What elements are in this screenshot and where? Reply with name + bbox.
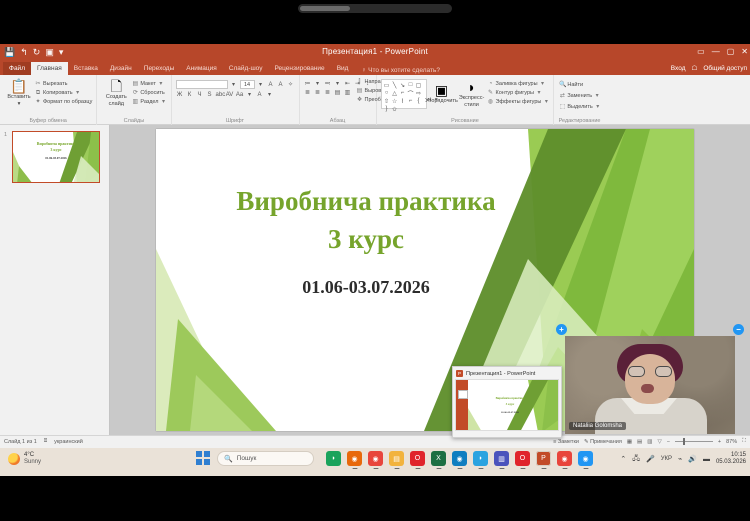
paste-label: Вставить	[7, 94, 30, 101]
lightbulb-icon: ♀	[361, 67, 366, 74]
running-indicator	[394, 468, 399, 470]
status-bar: Слайд 1 из 1 ⌸ украинский ≡ Заметки ✎ Пр…	[0, 435, 750, 447]
editing-commands: 🔍 Найти ⇄ Заменить ▾ ⬚ Выделить ▾	[558, 77, 600, 111]
shape-oval-icon[interactable]: ○	[383, 89, 391, 97]
shapes-gallery[interactable]: ▭ ╲ ↘ □ ▢ ○ △ ⌐ ⌒ ⇨ ⇧ ☆ ⌇ ⌐ {	[381, 79, 427, 109]
tab-animations[interactable]: Анимация	[180, 62, 223, 75]
group-font: ▾ 14 ▾ A A ✧ Ж К Ч S abc AV Aa	[172, 75, 300, 125]
group-label-font: Шрифт	[172, 118, 299, 124]
zoom-slider[interactable]	[675, 441, 713, 442]
shrink-font-icon[interactable]: A	[277, 82, 285, 88]
paste-chevron-down-icon[interactable]: ▾	[18, 101, 21, 108]
tab-review[interactable]: Рецензирование	[268, 62, 330, 75]
running-indicator	[415, 468, 420, 470]
character-spacing-icon[interactable]: AV	[226, 92, 234, 98]
view-reading-icon[interactable]: ▥	[647, 439, 652, 445]
shape-arrow-up-icon[interactable]: ⇧	[383, 97, 391, 105]
tab-design[interactable]: Дизайн	[104, 62, 138, 75]
network-icon[interactable]: 🖧	[632, 454, 640, 465]
tab-view[interactable]: Вид	[331, 62, 355, 75]
slide-counter: Слайд 1 из 1	[4, 439, 37, 445]
taskbar-app-opera-icon[interactable]: O	[410, 451, 425, 466]
shape-curve-icon[interactable]: ⌒	[407, 89, 415, 97]
person-icon: ☖	[692, 64, 698, 72]
align-left-icon[interactable]: ≣	[304, 89, 312, 96]
align-right-icon[interactable]: ≣	[324, 89, 332, 96]
strikethrough-icon[interactable]: abc	[216, 92, 224, 98]
taskbar-search[interactable]: 🔍 Пошук	[217, 451, 314, 466]
clear-format-icon[interactable]: ✧	[287, 81, 295, 88]
shape-flow-icon[interactable]: ⌇	[399, 97, 407, 105]
signin-area[interactable]: Вход ☖ Общий доступ	[671, 64, 747, 72]
clock[interactable]: 10:15 05.03.2026	[716, 452, 746, 466]
quick-styles-label: Экспресс-стили	[457, 95, 487, 109]
shape-outline-icon: ✎	[488, 89, 494, 97]
shape-fill-chevron-down-icon[interactable]: ▾	[540, 80, 546, 88]
start-icon-q2	[204, 451, 210, 457]
taskbar-preview-popup[interactable]: P Презентация1 - PowerPoint Виробнича пр…	[452, 366, 562, 438]
tell-me-search[interactable]: ♀ Что вы хотите сделать?	[354, 66, 440, 75]
group-label-drawing: Рисование	[377, 118, 554, 124]
format-painter-button[interactable]: ✦ Формат по образцу	[35, 98, 92, 106]
start-icon-q4	[204, 459, 210, 465]
video-call-tile[interactable]: Nataliia Golomsha	[565, 336, 735, 434]
shape-arrow-right-icon[interactable]: ⇨	[415, 89, 423, 97]
shape-effects-label: Эффекты фигуры	[496, 98, 542, 106]
search-icon: 🔍	[224, 455, 233, 463]
shape-corner-icon[interactable]: ⌐	[399, 89, 407, 97]
italic-icon[interactable]: К	[186, 92, 194, 98]
arrange-label: Упорядочить	[425, 98, 458, 105]
shape-effects-icon: ◍	[488, 98, 494, 106]
thumbnail-row: 1 Виробнича практика 3 курс 01.06-03.	[4, 131, 105, 183]
new-slide-icon: 🗋	[111, 79, 122, 94]
format-painter-icon: ✦	[35, 98, 41, 106]
section-icon: ▥	[132, 98, 138, 106]
shape-arrow-icon[interactable]: ↘	[399, 81, 407, 89]
find-button[interactable]: 🔍 Найти	[559, 81, 600, 89]
underline-icon[interactable]: Ч	[196, 92, 204, 98]
weather-text: 4°C Sunny	[24, 452, 41, 466]
font-size-field[interactable]: 14	[240, 80, 255, 89]
zoom-in-button[interactable]: +	[718, 439, 721, 445]
taskbar-app-teams-icon[interactable]: ▥	[494, 451, 509, 466]
start-icon-q1	[196, 451, 202, 457]
decrease-indent-icon[interactable]: ⇤	[344, 80, 352, 87]
font-name-field[interactable]	[176, 80, 228, 89]
grow-font-icon[interactable]: A	[267, 82, 275, 88]
video-minimize-button[interactable]: −	[733, 324, 744, 335]
clock-date: 05.03.2026	[716, 459, 746, 466]
start-button[interactable]	[196, 451, 211, 466]
running-indicator	[541, 468, 546, 470]
taskbar-app-chrome-icon[interactable]: ◉	[368, 451, 383, 466]
window-title: Презентация1 - PowerPoint	[0, 47, 750, 56]
taskbar-app-icons: ◗ ◉ ◉ ▤ O X ◉ ◗ ▥ O P ◉ ◉	[326, 451, 593, 466]
ribbon-tabs: Файл Главная Вставка Дизайн Переходы Ани…	[0, 62, 750, 75]
fit-to-window-icon[interactable]: ⛶	[742, 438, 746, 445]
participant-head	[617, 344, 683, 406]
comments-button[interactable]: ✎ Примечания	[584, 439, 622, 445]
thumbnail-dates: 01.06-03.07.2026	[13, 156, 99, 160]
screen-share-top-band	[0, 0, 750, 44]
share-button[interactable]: Общий доступ	[703, 65, 747, 72]
bullets-chevron-down-icon[interactable]: ▾	[314, 80, 322, 87]
quick-styles-icon: ◗	[467, 80, 475, 95]
preview-title: Презентация1 - PowerPoint	[466, 371, 535, 377]
taskbar-app-meet-icon[interactable]: ◗	[326, 451, 341, 466]
status-left: Слайд 1 из 1 ⌸ украинский	[4, 438, 83, 445]
running-indicator	[520, 468, 525, 470]
weather-widget[interactable]: 4°C Sunny	[8, 452, 41, 466]
shape-star-icon[interactable]: ☆	[391, 97, 399, 105]
running-indicator	[436, 468, 441, 470]
slide-thumbnail-pane[interactable]: 1 Виробнича практика 3 курс 01.06-03.	[0, 125, 110, 435]
slide-title-line2: 3 курс	[156, 224, 576, 255]
shape-effects-chevron-down-icon[interactable]: ▾	[543, 98, 549, 106]
format-painter-label: Формат по образцу	[43, 98, 92, 106]
comments-label: Примечания	[590, 439, 622, 445]
windows-taskbar: 4°C Sunny 🔍 Пошук ◗ ◉ ◉ ▤ O X ◉ ◗	[0, 448, 750, 476]
mic-icon[interactable]: 🎤	[646, 455, 655, 463]
bullets-icon[interactable]: ≔	[304, 80, 312, 87]
clipboard-commands: ✂ Вырезать ⧉ Копировать ▾ ✦ Формат по об…	[34, 80, 92, 106]
select-chevron-down-icon[interactable]: ▾	[595, 103, 601, 111]
shape-bracket-icon[interactable]: ⌐	[407, 97, 415, 105]
taskbar-app-chrome2-icon[interactable]: ◉	[557, 451, 572, 466]
powerpoint-icon: P	[456, 370, 463, 377]
taskbar-app-excel-icon[interactable]: X	[431, 451, 446, 466]
search-placeholder: Пошук	[237, 455, 257, 462]
layout-icon: ▤	[132, 80, 138, 88]
slides-commands: ▤ Макет ▾ ⟳ Сбросить ▥ Раздел ▾	[131, 80, 166, 106]
shape-fill-label: Заливка фигуры	[496, 80, 538, 88]
taskbar-app-firefox-icon[interactable]: ◉	[347, 451, 362, 466]
columns-icon[interactable]: ▥	[344, 89, 352, 96]
running-indicator	[457, 468, 462, 470]
tab-home[interactable]: Главная	[31, 62, 68, 75]
running-indicator	[562, 468, 567, 470]
shape-star2-icon[interactable]: ✩	[391, 105, 399, 113]
select-button[interactable]: ⬚ Выделить ▾	[559, 103, 600, 111]
weather-description: Sunny	[24, 459, 41, 466]
zoom-level[interactable]: 87%	[726, 439, 737, 445]
copy-label: Копировать	[43, 89, 73, 97]
shape-outline-label: Контур фигуры	[496, 89, 534, 97]
participant-mouth	[641, 384, 654, 393]
start-icon-q3	[196, 459, 202, 465]
replace-label: Заменить	[567, 92, 592, 100]
preview-title-line1: Виробнича практика	[464, 396, 556, 400]
numbering-chevron-down-icon[interactable]: ▾	[334, 80, 342, 87]
section-button[interactable]: ▥ Раздел ▾	[132, 98, 166, 106]
video-add-button[interactable]: +	[556, 324, 567, 335]
shape-fill-button[interactable]: ◔ Заливка фигуры ▾	[488, 80, 550, 88]
arrange-icon: ▣	[435, 83, 448, 98]
tray-overflow-chevron-up-icon[interactable]: ⌃	[620, 455, 626, 463]
align-center-icon[interactable]: ≣	[314, 89, 322, 96]
zoom-slider-handle[interactable]	[683, 438, 685, 445]
paste-icon: 📋	[10, 79, 27, 94]
slide-title-line1: Виробнича практика	[156, 186, 576, 217]
layout-button[interactable]: ▤ Макет ▾	[132, 80, 166, 88]
title-bar: 💾 ↰ ↻ ▣ ▾ Презентация1 - PowerPoint ▭ — …	[0, 44, 750, 62]
replace-button[interactable]: ⇄ Заменить ▾	[559, 92, 600, 100]
glasses-right-lens	[655, 366, 672, 377]
view-sorter-icon[interactable]: ▤	[637, 439, 642, 445]
align-text-icon: ▤	[357, 87, 363, 95]
group-label-editing: Редактирование	[554, 118, 604, 124]
new-slide-label: Создать слайд	[101, 94, 131, 108]
taskbar-app-zoom-icon[interactable]: ◉	[578, 451, 593, 466]
ribbon-display-options-icon[interactable]: ▭	[697, 46, 705, 58]
running-indicator	[352, 468, 357, 470]
justify-icon[interactable]: ▤	[334, 89, 342, 96]
paste-button[interactable]: 📋 Вставить ▾	[4, 77, 34, 108]
group-slides: 🗋 Создать слайд ▤ Макет ▾ ⟳ Сбросить	[97, 75, 171, 125]
running-indicator	[583, 468, 588, 470]
running-indicator	[373, 468, 378, 470]
participant-name-label: Nataliia Golomsha	[569, 422, 626, 430]
ribbon: 📋 Вставить ▾ ✂ Вырезать ⧉ Копировать ▾	[0, 75, 750, 125]
shape-format-commands: ◔ Заливка фигуры ▾ ✎ Контур фигуры ▾ ◍ Э…	[487, 80, 550, 106]
notes-label: Заметки	[558, 439, 579, 445]
thumbnail-title-line2: 3 курс	[13, 147, 99, 152]
share-pill-fill	[300, 6, 350, 11]
new-slide-button[interactable]: 🗋 Создать слайд	[101, 77, 131, 108]
tab-slideshow[interactable]: Слайд-шоу	[223, 62, 269, 75]
close-button[interactable]: ✕	[741, 46, 748, 58]
preview-title-row: P Презентация1 - PowerPoint	[453, 367, 561, 379]
select-icon: ⬚	[559, 103, 565, 111]
screen-share-control-pill[interactable]	[298, 4, 452, 13]
replace-icon: ⇄	[559, 92, 565, 100]
screen: 💾 ↰ ↻ ▣ ▾ Презентация1 - PowerPoint ▭ — …	[0, 0, 750, 521]
find-label: Найти	[567, 81, 583, 89]
shape-brace-icon[interactable]: }	[383, 105, 391, 113]
participant-face	[625, 354, 675, 404]
maximize-button[interactable]: ▢	[727, 46, 735, 58]
tell-me-label: Что вы хотите сделать?	[368, 67, 440, 74]
font-size-chevron-down-icon[interactable]: ▾	[257, 81, 265, 88]
shape-triangle-icon[interactable]: △	[391, 89, 399, 97]
group-label-clipboard: Буфер обмена	[0, 118, 96, 124]
scissors-icon: ✂	[35, 80, 41, 88]
text-direction-icon: ⫿	[357, 78, 363, 86]
glasses-icon	[628, 366, 672, 377]
group-label-paragraph: Абзац	[300, 118, 376, 124]
group-drawing: ▭ ╲ ↘ □ ▢ ○ △ ⌐ ⌒ ⇨ ⇧ ☆ ⌇ ⌐ {	[377, 75, 555, 125]
preview-slide-thumbnail[interactable]: Виробнича практика 3 курс 01.06-03.07.20…	[455, 379, 559, 431]
change-case-icon[interactable]: Aa	[236, 92, 244, 98]
language-indicator[interactable]: УКР	[661, 456, 672, 462]
reset-label: Сбросить	[140, 89, 164, 97]
slide-number-label: 1	[4, 131, 10, 183]
layout-chevron-down-icon[interactable]: ▾	[158, 80, 164, 88]
copy-button[interactable]: ⧉ Копировать ▾	[35, 89, 92, 97]
slide-dates-text: 01.06-03.07.2026	[156, 277, 576, 298]
running-indicator	[499, 468, 504, 470]
taskbar-app-powerpoint-icon[interactable]: P	[536, 451, 551, 466]
cut-label: Вырезать	[43, 80, 67, 88]
select-label: Выделить	[567, 103, 592, 111]
spellcheck-icon[interactable]: ⌸	[44, 438, 47, 445]
replace-chevron-down-icon[interactable]: ▾	[594, 92, 600, 100]
taskbar-app-telegram-icon[interactable]: ◗	[473, 451, 488, 466]
running-indicator	[478, 468, 483, 470]
glasses-left-lens	[628, 366, 645, 377]
tab-insert[interactable]: Вставка	[68, 62, 104, 75]
copy-chevron-down-icon[interactable]: ▾	[75, 89, 81, 97]
notes-button[interactable]: ≡ Заметки	[553, 439, 579, 445]
battery-icon[interactable]: ▬	[703, 456, 710, 463]
bottom-black-band	[0, 476, 750, 521]
shadow-icon[interactable]: S	[206, 92, 214, 98]
taskbar-app-file-explorer-icon[interactable]: ▤	[389, 451, 404, 466]
wifi-icon[interactable]: ⌁	[678, 455, 682, 463]
tab-transitions[interactable]: Переходы	[138, 62, 181, 75]
font-name-chevron-down-icon[interactable]: ▾	[230, 81, 238, 88]
font-color-icon[interactable]: A	[256, 92, 264, 98]
window-controls[interactable]: ▭ — ▢ ✕	[697, 46, 748, 58]
shape-line-icon[interactable]: ╲	[391, 81, 399, 89]
reset-icon: ⟳	[132, 89, 138, 97]
group-editing: 🔍 Найти ⇄ Заменить ▾ ⬚ Выделить ▾ Редакт…	[554, 75, 604, 125]
sound-icon[interactable]: 🔊	[688, 455, 697, 463]
font-color-chevron-down-icon[interactable]: ▾	[266, 91, 274, 98]
clock-time: 10:15	[731, 452, 746, 459]
system-tray: ⌃ 🖧 🎤 УКР ⌁ 🔊 ▬ 10:15 05.03.2026	[620, 452, 746, 466]
view-normal-icon[interactable]: ▦	[627, 439, 632, 445]
change-case-chevron-down-icon[interactable]: ▾	[246, 91, 254, 98]
quick-styles-button[interactable]: ◗ Экспресс-стили	[457, 78, 487, 109]
view-slideshow-icon[interactable]: ▽	[657, 439, 661, 445]
layout-label: Макет	[140, 80, 156, 88]
taskbar-center: 🔍 Пошук ◗ ◉ ◉ ▤ O X ◉ ◗ ▥ O P ◉ ◉	[196, 451, 593, 466]
search-icon: 🔍	[559, 81, 565, 89]
minimize-button[interactable]: —	[712, 46, 720, 58]
weather-temperature: 4°C	[24, 452, 41, 459]
ribbon-tab-strip: Файл Главная Вставка Дизайн Переходы Ани…	[0, 62, 750, 75]
slide-thumbnail-1[interactable]: Виробнича практика 3 курс 01.06-03.07.20…	[12, 131, 100, 183]
shape-outline-chevron-down-icon[interactable]: ▾	[536, 89, 542, 97]
copy-icon: ⧉	[35, 89, 41, 97]
group-paragraph: ≔ ▾ ≕ ▾ ⇤ ⇥ ↕ ≣ ≣ ≣ ▤ ▥	[300, 75, 377, 125]
shape-effects-button[interactable]: ◍ Эффекты фигуры ▾	[488, 98, 550, 106]
shape-fill-icon: ◔	[488, 80, 494, 88]
shape-outline-button[interactable]: ✎ Контур фигуры ▾	[488, 89, 550, 97]
shape-rect-icon[interactable]: ▭	[383, 81, 391, 89]
preview-dates: 01.06-03.07.2026	[464, 411, 556, 414]
section-label: Раздел	[140, 98, 158, 106]
numbering-icon[interactable]: ≕	[324, 80, 332, 87]
thumbnail-title-line1: Виробнича практика	[13, 141, 99, 146]
group-clipboard: 📋 Вставить ▾ ✂ Вырезать ⧉ Копировать ▾	[0, 75, 97, 125]
arrange-button[interactable]: ▣ Упорядочить	[427, 81, 457, 105]
smartart-icon: ❖	[357, 96, 363, 104]
status-right: ≡ Заметки ✎ Примечания ▦ ▤ ▥ ▽ − + 87% ⛶	[553, 438, 746, 445]
signin-link[interactable]: Вход	[671, 65, 686, 72]
bold-icon[interactable]: Ж	[176, 92, 184, 98]
section-chevron-down-icon[interactable]: ▾	[161, 98, 167, 106]
taskbar-app-opera-gx-icon[interactable]: O	[515, 451, 530, 466]
preview-title-line2: 3 курс	[464, 402, 556, 406]
shape-rounded-icon[interactable]: ▢	[415, 81, 423, 89]
group-label-slides: Слайды	[97, 118, 170, 124]
cut-button[interactable]: ✂ Вырезать	[35, 80, 92, 88]
language-indicator[interactable]: украинский	[54, 439, 83, 445]
reset-button[interactable]: ⟳ Сбросить	[132, 89, 166, 97]
zoom-out-button[interactable]: −	[667, 439, 670, 445]
sun-icon	[8, 453, 20, 465]
taskbar-app-edge-icon[interactable]: ◉	[452, 451, 467, 466]
shape-curly-icon[interactable]: {	[415, 97, 423, 105]
tab-file[interactable]: Файл	[3, 62, 31, 75]
